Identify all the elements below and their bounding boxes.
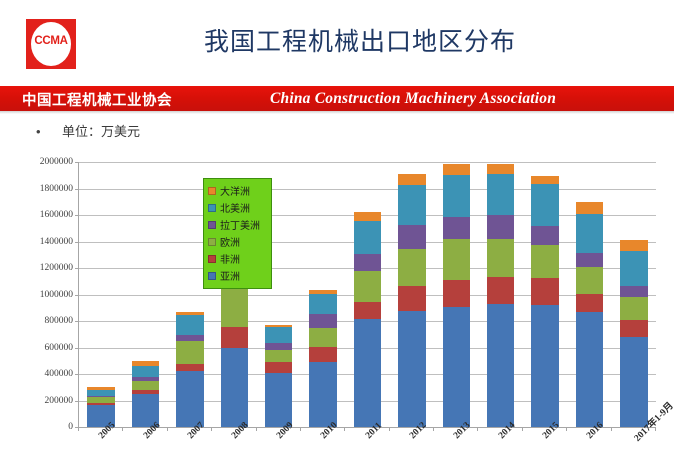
bar-segment bbox=[443, 217, 471, 240]
bar-segment bbox=[398, 311, 426, 427]
bar-segment bbox=[265, 373, 293, 427]
legend-color-swatch bbox=[208, 272, 216, 280]
bar-segment bbox=[443, 280, 471, 307]
legend-item: 欧洲 bbox=[208, 233, 268, 250]
bar-segment bbox=[620, 337, 648, 427]
bar-segment bbox=[265, 343, 293, 351]
bar-stack bbox=[309, 290, 337, 427]
legend-item-label: 大洋洲 bbox=[220, 183, 250, 198]
y-axis-tick-label: 1800000 bbox=[3, 184, 73, 194]
bar-segment bbox=[176, 371, 204, 427]
bar-segment bbox=[354, 319, 382, 427]
banner-english-name: China Construction Machinery Association bbox=[270, 90, 556, 108]
bar-segment bbox=[309, 328, 337, 348]
bar-segment bbox=[620, 251, 648, 286]
bar-segment bbox=[265, 350, 293, 361]
bar-segment bbox=[487, 164, 515, 174]
y-axis-labels: 0200000400000600000800000100000012000001… bbox=[0, 162, 73, 427]
bar-segment bbox=[221, 348, 249, 428]
banner-chinese-name: 中国工程机械工业协会 bbox=[22, 89, 172, 110]
bar-segment bbox=[620, 240, 648, 251]
bar-segment bbox=[531, 184, 559, 226]
y-axis-tick bbox=[75, 242, 79, 243]
bar-segment bbox=[265, 327, 293, 343]
y-axis-tick bbox=[75, 215, 79, 216]
bar-segment bbox=[487, 174, 515, 215]
bar-segment bbox=[487, 239, 515, 276]
legend-item: 大洋洲 bbox=[208, 182, 268, 199]
y-axis-tick bbox=[75, 348, 79, 349]
logo-label: CCMA bbox=[26, 35, 76, 47]
bar-segment bbox=[132, 366, 160, 378]
unit-note-text: 单位：万美元 bbox=[62, 121, 140, 140]
ccma-logo: CCMA bbox=[26, 19, 76, 69]
y-axis-tick-label: 600000 bbox=[3, 343, 73, 353]
bar-segment bbox=[354, 212, 382, 221]
bar-segment bbox=[576, 214, 604, 253]
x-axis-tick bbox=[522, 427, 523, 431]
bar-segment bbox=[620, 286, 648, 297]
bar-stack bbox=[176, 312, 204, 427]
legend-color-swatch bbox=[208, 187, 216, 195]
x-axis-tick bbox=[344, 427, 345, 431]
legend-item-label: 非洲 bbox=[220, 251, 240, 266]
y-axis-tick bbox=[75, 189, 79, 190]
bar-segment bbox=[309, 314, 337, 327]
bar-segment bbox=[265, 362, 293, 374]
legend-color-swatch bbox=[208, 204, 216, 212]
x-axis-tick bbox=[566, 427, 567, 431]
x-axis-tick bbox=[300, 427, 301, 431]
bar-stack bbox=[531, 176, 559, 427]
bar-segment bbox=[620, 297, 648, 320]
legend-item-label: 拉丁美洲 bbox=[220, 217, 260, 232]
bar-segment bbox=[576, 267, 604, 294]
x-axis-tick bbox=[477, 427, 478, 431]
x-axis-tick bbox=[167, 427, 168, 431]
bar-segment bbox=[398, 225, 426, 249]
y-axis-tick-label: 0 bbox=[3, 422, 73, 432]
bar-segment bbox=[354, 221, 382, 253]
chart-legend: 大洋洲北美洲拉丁美洲欧洲非洲亚洲 bbox=[203, 178, 272, 289]
bar-stack bbox=[132, 361, 160, 427]
bar-segment bbox=[176, 364, 204, 371]
x-axis-tick bbox=[122, 427, 123, 431]
y-axis-tick-label: 400000 bbox=[3, 369, 73, 379]
bar-segment bbox=[576, 253, 604, 266]
y-axis-tick-label: 800000 bbox=[3, 316, 73, 326]
plot-area: 大洋洲北美洲拉丁美洲欧洲非洲亚洲 bbox=[78, 162, 655, 427]
bar-stack bbox=[265, 325, 293, 427]
bar-segment bbox=[576, 312, 604, 427]
legend-item: 非洲 bbox=[208, 250, 268, 267]
banner-shadow bbox=[0, 111, 674, 114]
page-title: 我国工程机械出口地区分布 bbox=[150, 22, 570, 58]
slide-header: CCMA 我国工程机械出口地区分布 bbox=[0, 0, 674, 85]
legend-item-label: 北美洲 bbox=[220, 200, 250, 215]
bar-segment bbox=[398, 249, 426, 286]
bar-segment bbox=[309, 294, 337, 314]
bar-stack bbox=[620, 240, 648, 427]
bar-segment bbox=[443, 307, 471, 427]
bar-stack bbox=[487, 164, 515, 427]
bar-segment bbox=[487, 304, 515, 427]
legend-color-swatch bbox=[208, 238, 216, 246]
export-by-region-chart: 0200000400000600000800000100000012000001… bbox=[0, 152, 674, 464]
x-axis-line bbox=[78, 427, 655, 428]
bar-stack bbox=[354, 212, 382, 427]
bar-segment bbox=[531, 176, 559, 184]
bar-segment bbox=[176, 315, 204, 335]
y-axis-tick-label: 1000000 bbox=[3, 290, 73, 300]
association-banner: 中国工程机械工业协会 China Construction Machinery … bbox=[0, 86, 674, 111]
legend-item: 北美洲 bbox=[208, 199, 268, 216]
bar-segment bbox=[443, 164, 471, 175]
legend-item-label: 欧洲 bbox=[220, 234, 240, 249]
bar-segment bbox=[576, 202, 604, 214]
bar-segment bbox=[87, 390, 115, 397]
legend-item-label: 亚洲 bbox=[220, 268, 240, 283]
bar-segment bbox=[487, 277, 515, 304]
bar-segment bbox=[354, 302, 382, 319]
bar-segment bbox=[531, 305, 559, 427]
gridline bbox=[79, 189, 656, 190]
bar-segment bbox=[443, 239, 471, 279]
y-axis-tick-label: 2000000 bbox=[3, 157, 73, 167]
bar-stack bbox=[443, 164, 471, 427]
bar-segment bbox=[398, 286, 426, 311]
y-axis-tick bbox=[75, 401, 79, 402]
bar-segment bbox=[309, 347, 337, 361]
legend-color-swatch bbox=[208, 221, 216, 229]
y-axis-tick bbox=[75, 295, 79, 296]
bar-stack bbox=[398, 174, 426, 427]
bar-segment bbox=[132, 381, 160, 390]
bar-segment bbox=[531, 278, 559, 305]
unit-note-line: • 单位：万美元 bbox=[36, 121, 140, 140]
y-axis-tick-label: 200000 bbox=[3, 396, 73, 406]
bar-segment bbox=[354, 254, 382, 271]
y-axis-tick-label: 1200000 bbox=[3, 263, 73, 273]
bar-segment bbox=[354, 271, 382, 302]
x-axis-tick bbox=[611, 427, 612, 431]
x-axis-tick bbox=[211, 427, 212, 431]
bar-segment bbox=[309, 362, 337, 427]
bar-segment bbox=[221, 327, 249, 348]
legend-item: 拉丁美洲 bbox=[208, 216, 268, 233]
legend-item: 亚洲 bbox=[208, 267, 268, 284]
bar-segment bbox=[531, 245, 559, 278]
bar-segment bbox=[487, 215, 515, 239]
x-axis-tick bbox=[433, 427, 434, 431]
bar-segment bbox=[443, 175, 471, 217]
y-axis-tick bbox=[75, 321, 79, 322]
gridline bbox=[79, 162, 656, 163]
bar-stack bbox=[576, 202, 604, 427]
bar-segment bbox=[531, 226, 559, 245]
bar-segment bbox=[620, 320, 648, 337]
y-axis-tick bbox=[75, 374, 79, 375]
x-axis-tick bbox=[78, 427, 79, 431]
bar-segment bbox=[398, 185, 426, 225]
x-axis-tick bbox=[256, 427, 257, 431]
y-axis-tick-label: 1400000 bbox=[3, 237, 73, 247]
bar-segment bbox=[176, 341, 204, 364]
y-axis-tick-label: 1600000 bbox=[3, 210, 73, 220]
bar-segment bbox=[576, 294, 604, 313]
legend-color-swatch bbox=[208, 255, 216, 263]
y-axis-tick bbox=[75, 268, 79, 269]
x-axis-tick bbox=[389, 427, 390, 431]
y-axis-tick bbox=[75, 162, 79, 163]
bar-segment bbox=[398, 174, 426, 185]
bullet-glyph: • bbox=[36, 125, 46, 138]
